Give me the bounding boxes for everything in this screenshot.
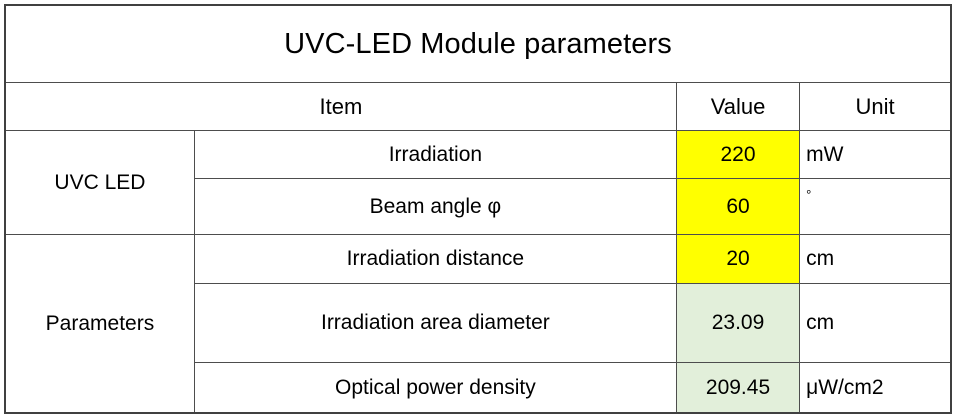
value-cell[interactable]: 220 [676, 131, 799, 179]
item-label: Irradiation [194, 131, 676, 179]
unit-cell: μW/cm2 [800, 363, 951, 414]
table-row: Parameters Irradiation distance 20 cm [5, 235, 951, 284]
table-header-row: Item Value Unit [5, 83, 951, 131]
value-cell[interactable]: 20 [676, 235, 799, 284]
item-label: Irradiation distance [194, 235, 676, 284]
table-title: UVC-LED Module parameters [5, 5, 951, 83]
item-label: Optical power density [194, 363, 676, 414]
table-title-row: UVC-LED Module parameters [5, 5, 951, 83]
uvc-led-parameter-table: UVC-LED Module parameters Item Value Uni… [4, 4, 952, 414]
column-header-value: Value [676, 83, 799, 131]
spreadsheet-canvas: UVC-LED Module parameters Item Value Uni… [0, 0, 956, 403]
value-cell[interactable]: 209.45 [676, 363, 799, 414]
unit-cell: mW [800, 131, 951, 179]
unit-cell: ° [800, 179, 951, 235]
table-row: UVC LED Irradiation 220 mW [5, 131, 951, 179]
column-header-unit: Unit [800, 83, 951, 131]
unit-cell: cm [800, 235, 951, 284]
unit-cell: cm [800, 284, 951, 363]
item-label: Beam angle φ [194, 179, 676, 235]
value-cell[interactable]: 23.09 [676, 284, 799, 363]
item-label: Irradiation area diameter [194, 284, 676, 363]
column-header-item: Item [5, 83, 676, 131]
group-label-parameters: Parameters [5, 235, 194, 414]
value-cell[interactable]: 60 [676, 179, 799, 235]
group-label-uvc-led: UVC LED [5, 131, 194, 235]
